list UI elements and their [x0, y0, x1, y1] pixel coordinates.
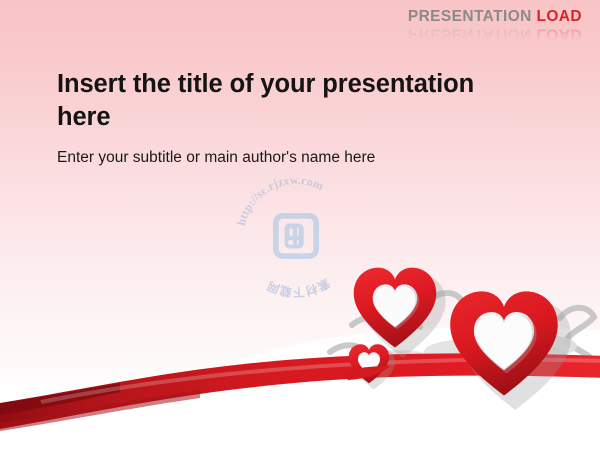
logo-word-presentation-reflection: PRESENTATION	[408, 26, 532, 43]
logo-word-presentation: PRESENTATION	[408, 8, 532, 25]
presentation-slide: http://sc.rjzxw.com 素材下载网 PRESENTATION L…	[0, 0, 600, 450]
watermark: http://sc.rjzxw.com 素材下载网	[232, 172, 360, 300]
logo-word-load-reflection: LOAD	[536, 26, 582, 43]
presentation-load-logo-reflection: PRESENTATION LOAD	[408, 26, 582, 42]
logo-word-load: LOAD	[536, 8, 582, 25]
watermark-logo-icon	[273, 213, 319, 259]
watermark-chinese: 素材下载网	[265, 276, 332, 300]
slide-title[interactable]: Insert the title of your presentation he…	[57, 68, 497, 134]
presentation-load-logo: PRESENTATION LOAD	[408, 9, 582, 25]
slide-subtitle[interactable]: Enter your subtitle or main author's nam…	[57, 149, 527, 168]
